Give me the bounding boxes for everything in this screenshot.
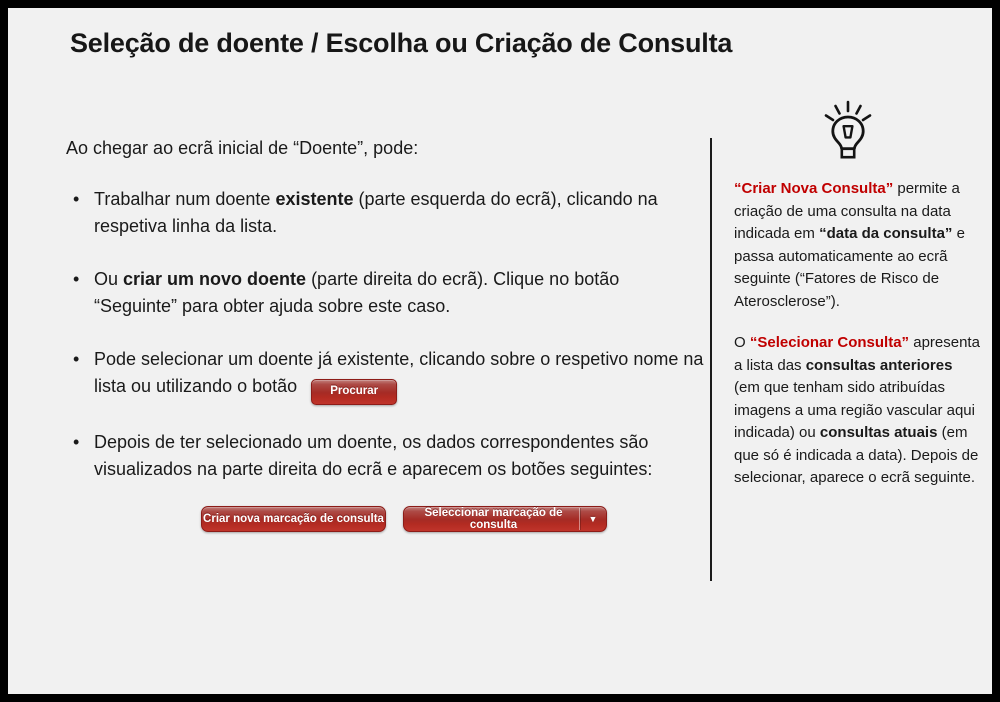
bullet-text-4a: Depois de ter selecionado um doente, os … — [94, 432, 652, 479]
consultation-buttons-row: Criar nova marcação de consulta Seleccio… — [201, 506, 607, 532]
tip-1-bold-a: “data da consulta” — [819, 225, 952, 242]
list-item: • Trabalhar num doente existente (parte … — [58, 186, 706, 240]
tip-2-lead: O — [734, 334, 750, 351]
chevron-down-icon[interactable]: ▼ — [580, 514, 606, 524]
procurar-button[interactable]: Procurar — [311, 379, 397, 405]
tip-text-block: “Criar Nova Consulta” permite a criação … — [734, 178, 980, 490]
bullet-dot-icon: • — [73, 429, 79, 456]
bullet-dot-icon: • — [73, 266, 79, 293]
page-title: Seleção de doente / Escolha ou Criação d… — [70, 28, 870, 59]
bullet-text-2a: Ou — [94, 269, 123, 289]
list-item: • Depois de ter selecionado um doente, o… — [58, 429, 706, 483]
slide-frame: Seleção de doente / Escolha ou Criação d… — [0, 0, 1000, 702]
list-item: • Pode selecionar um doente já existente… — [58, 346, 706, 403]
lightbulb-icon — [820, 100, 876, 162]
tip-2-bold-a: consultas anteriores — [806, 357, 953, 374]
tip-paragraph-1: “Criar Nova Consulta” permite a criação … — [734, 178, 980, 313]
bullet-text-1b: existente — [275, 189, 353, 209]
vertical-divider — [710, 138, 712, 581]
bullet-dot-icon: • — [73, 186, 79, 213]
slide-canvas: Seleção de doente / Escolha ou Criação d… — [8, 8, 992, 694]
intro-text: Ao chegar ao ecrã inicial de “Doente”, p… — [66, 138, 418, 159]
criar-nova-marcacao-button[interactable]: Criar nova marcação de consulta — [201, 506, 386, 532]
bullet-dot-icon: • — [73, 346, 79, 373]
seleccionar-marcacao-label: Seleccionar marcação de consulta — [404, 507, 579, 531]
accent-criar-nova-consulta: “Criar Nova Consulta” — [734, 180, 893, 197]
tip-2-bold-b: consultas atuais — [820, 424, 938, 441]
bullet-text-2b: criar um novo doente — [123, 269, 306, 289]
paragraph-gap — [734, 313, 980, 332]
tip-paragraph-2: O “Selecionar Consulta” apresenta a list… — [734, 332, 980, 490]
accent-selecionar-consulta: “Selecionar Consulta” — [750, 334, 909, 351]
bullet-text-1a: Trabalhar num doente — [94, 189, 275, 209]
instruction-bullet-list: • Trabalhar num doente existente (parte … — [58, 186, 706, 509]
bullet-text-3a: Pode selecionar um doente já existente, … — [94, 349, 703, 396]
list-item: • Ou criar um novo doente (parte direita… — [58, 266, 706, 320]
seleccionar-marcacao-button[interactable]: Seleccionar marcação de consulta ▼ — [403, 506, 607, 532]
